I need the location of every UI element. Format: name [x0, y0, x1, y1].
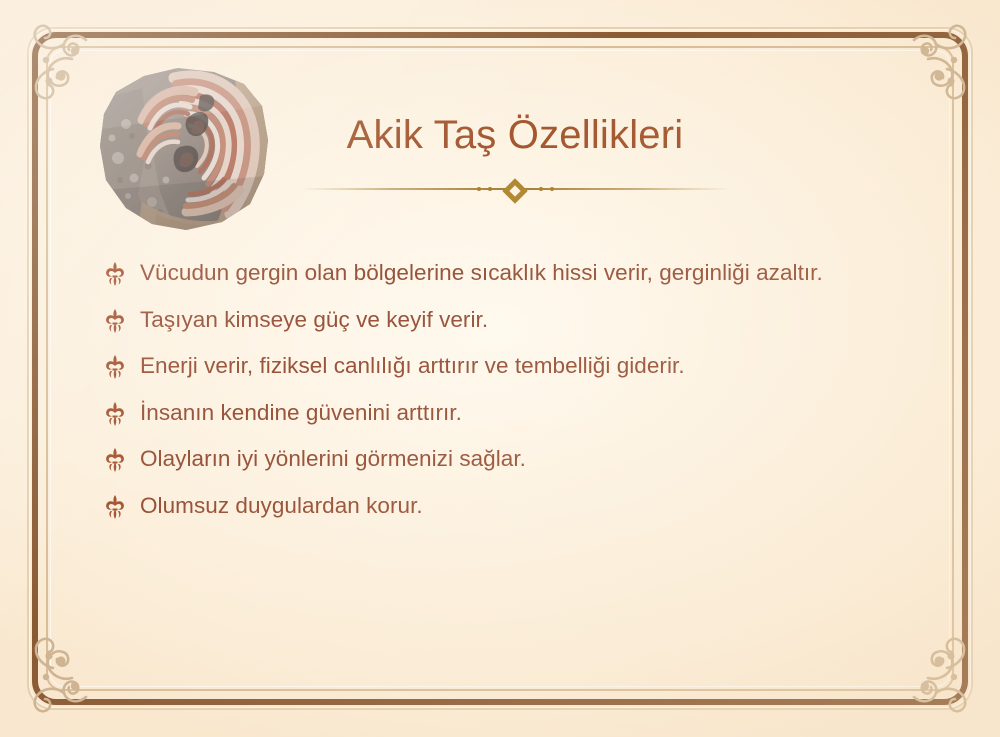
fleur-de-lis-icon: [104, 401, 126, 427]
corner-ornament-top-right: [870, 12, 988, 130]
list-item: Olayların iyi yönlerini görmenizi sağlar…: [104, 444, 930, 475]
decorative-info-card: Akik Taş Özellikleri: [0, 0, 1000, 737]
properties-list: Vücudun gergin olan bölgelerine sıcaklık…: [104, 258, 930, 538]
divider-dot-left-outer: [477, 187, 481, 191]
title-block: Akik Taş Özellikleri: [300, 112, 730, 197]
corner-ornament-bottom-left: [12, 607, 130, 725]
list-item: Olumsuz duygulardan korur.: [104, 491, 930, 522]
diamond-divider-icon: [300, 181, 730, 197]
list-item-text: İnsanın kendine güvenini arttırır.: [140, 398, 462, 429]
list-item: Vücudun gergin olan bölgelerine sıcaklık…: [104, 258, 930, 289]
list-item-text: Enerji verir, fiziksel canlılığı arttırı…: [140, 351, 685, 382]
corner-ornament-bottom-right: [870, 607, 988, 725]
divider-diamond-icon: [502, 178, 527, 203]
page-title: Akik Taş Özellikleri: [300, 112, 730, 159]
list-item-text: Vücudun gergin olan bölgelerine sıcaklık…: [140, 258, 823, 289]
fleur-de-lis-icon: [104, 308, 126, 334]
list-item-text: Olayların iyi yönlerini görmenizi sağlar…: [140, 444, 526, 475]
fleur-de-lis-icon: [104, 354, 126, 380]
fleur-de-lis-icon: [104, 447, 126, 473]
list-item-text: Taşıyan kimseye güç ve keyif verir.: [140, 305, 488, 336]
akik-stone-photo: [82, 62, 289, 237]
list-item-text: Olumsuz duygulardan korur.: [140, 491, 423, 522]
list-item: Enerji verir, fiziksel canlılığı arttırı…: [104, 351, 930, 382]
list-item: İnsanın kendine güvenini arttırır.: [104, 398, 930, 429]
divider-dot-right-inner: [539, 187, 543, 191]
divider-dot-left-inner: [488, 187, 492, 191]
fleur-de-lis-icon: [104, 494, 126, 520]
list-item: Taşıyan kimseye güç ve keyif verir.: [104, 305, 930, 336]
fleur-de-lis-icon: [104, 261, 126, 287]
divider-dot-right-outer: [550, 187, 554, 191]
